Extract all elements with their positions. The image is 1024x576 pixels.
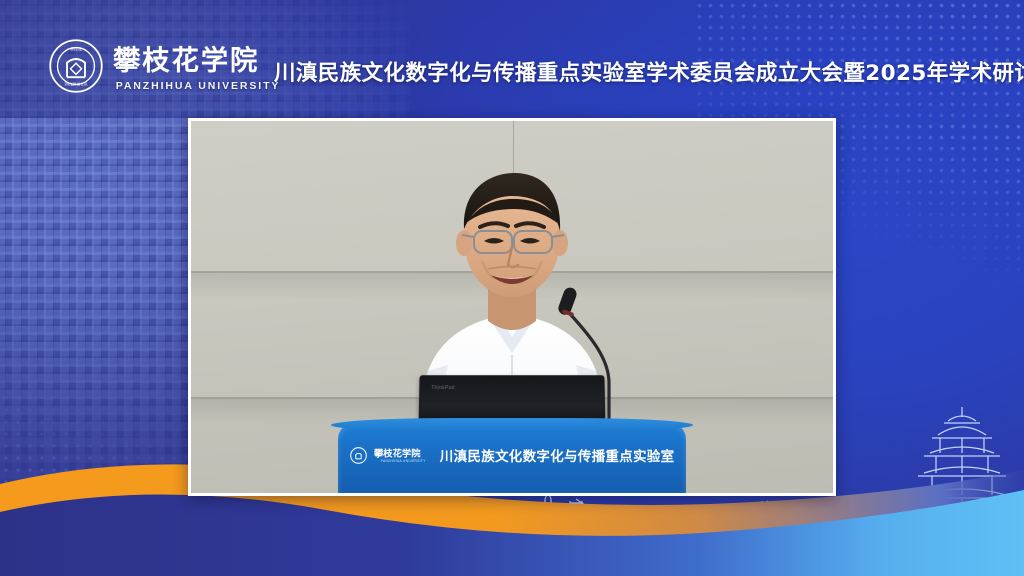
video-content[interactable]: ThinkPad 攀枝花学院 bbox=[191, 121, 833, 493]
podium-top-edge bbox=[331, 418, 693, 432]
gooseneck-microphone-icon bbox=[513, 263, 643, 433]
page-title: 川滇民族文化数字化与传播重点实验室学术委员会成立大会暨2025年学术研讨会 bbox=[274, 56, 1024, 87]
podium-brand-cn-text: 攀枝花学院 bbox=[374, 447, 421, 458]
presentation-stage: 攀枝花 PANZHIHUA 攀枝花学院 PANZHIHUA UNIVERSITY… bbox=[0, 0, 1024, 576]
brand-cn-text: 攀枝花学院 bbox=[113, 44, 259, 76]
podium-crest-icon bbox=[350, 447, 367, 464]
svg-text:攀枝花: 攀枝花 bbox=[70, 46, 82, 51]
podium-brand-lockup: 攀枝花学院 PANZHIHUA UNIVERSITY bbox=[374, 447, 433, 463]
brand-lockup: 攀枝花 PANZHIHUA 攀枝花学院 PANZHIHUA UNIVERSITY bbox=[48, 38, 283, 94]
laptop-brand-label: ThinkPad bbox=[431, 385, 455, 391]
speaker-ear-right bbox=[552, 230, 568, 256]
podium-lab-name: 川滇民族文化数字化与传播重点实验室 bbox=[440, 445, 675, 465]
podium-brand-english: PANZHIHUA UNIVERSITY bbox=[381, 459, 426, 463]
svg-text:PANZHIHUA: PANZHIHUA bbox=[65, 82, 88, 87]
podium-sign: 攀枝花学院 PANZHIHUA UNIVERSITY 川滇民族文化数字化与传播重… bbox=[338, 445, 686, 465]
brand-name-chinese: 攀枝花学院 bbox=[113, 43, 283, 77]
speaker-ear-left bbox=[456, 230, 472, 256]
brand-name-english: PANZHIHUA UNIVERSITY bbox=[116, 80, 281, 92]
university-crest-icon: 攀枝花 PANZHIHUA bbox=[48, 38, 104, 94]
video-player-frame[interactable]: ThinkPad 攀枝花学院 bbox=[188, 118, 836, 496]
podium-brand-chinese: 攀枝花学院 bbox=[374, 447, 433, 458]
podium: 攀枝花学院 PANZHIHUA UNIVERSITY 川滇民族文化数字化与传播重… bbox=[338, 423, 686, 493]
